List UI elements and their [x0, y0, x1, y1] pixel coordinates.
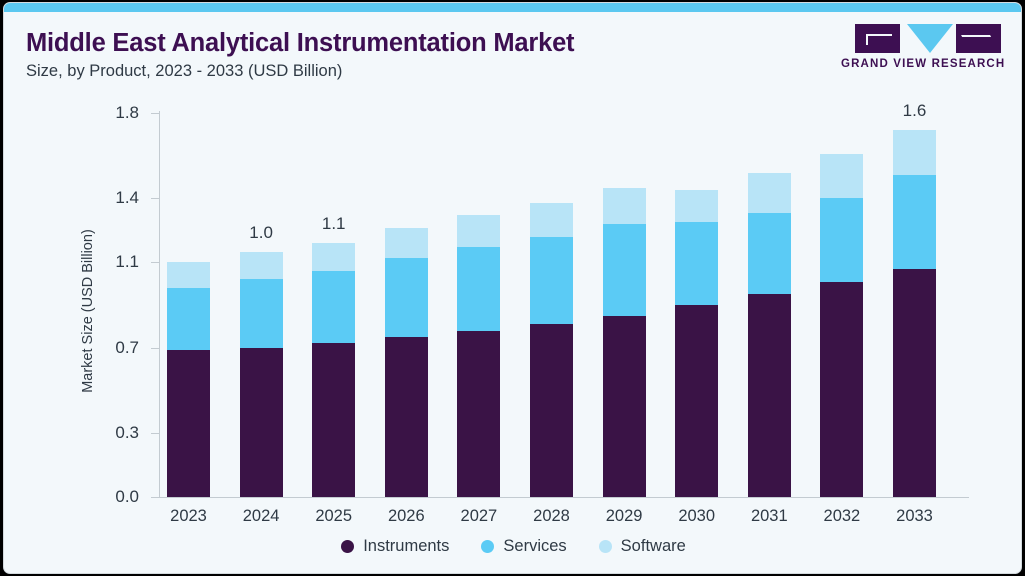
legend-item-instruments[interactable]: Instruments [341, 537, 449, 556]
bar-stack[interactable] [675, 190, 718, 497]
y-axis-line [159, 111, 160, 498]
bar-segment-services[interactable] [748, 213, 791, 294]
legend-label: Instruments [363, 537, 449, 556]
bar-segment-instruments[interactable] [312, 343, 355, 497]
bar-segment-instruments[interactable] [820, 282, 863, 497]
y-axis-tick-label: 0.0 [79, 487, 139, 507]
bar-stack[interactable] [167, 262, 210, 497]
bar-segment-software[interactable] [312, 243, 355, 271]
legend-label: Services [503, 537, 566, 556]
bar-stack[interactable] [240, 252, 283, 497]
y-axis-tick-mark [151, 198, 160, 199]
y-axis-tick-mark [151, 262, 160, 263]
x-axis-tick-label: 2031 [729, 507, 809, 526]
y-axis-tick-mark [151, 497, 160, 498]
bar-segment-instruments[interactable] [457, 331, 500, 497]
bar-segment-software[interactable] [675, 190, 718, 222]
bar-segment-services[interactable] [530, 237, 573, 324]
x-axis-tick-label: 2028 [512, 507, 592, 526]
x-axis-tick-label: 2030 [657, 507, 737, 526]
bar-value-label: 1.0 [221, 223, 301, 243]
chart-legend: InstrumentsServicesSoftware [4, 537, 1022, 556]
bar-segment-software[interactable] [385, 228, 428, 258]
bar-segment-software[interactable] [457, 215, 500, 247]
x-axis-line [159, 497, 969, 498]
x-axis-tick-label: 2027 [439, 507, 519, 526]
bar-segment-services[interactable] [167, 288, 210, 350]
bar-segment-instruments[interactable] [748, 294, 791, 497]
legend-swatch-icon [599, 540, 612, 553]
bar-stack[interactable] [457, 215, 500, 497]
legend-swatch-icon [481, 540, 494, 553]
x-axis-tick-label: 2025 [294, 507, 374, 526]
bar-segment-software[interactable] [603, 188, 646, 224]
x-axis-tick-label: 2032 [802, 507, 882, 526]
bar-segment-services[interactable] [893, 175, 936, 269]
x-axis-tick-label: 2026 [366, 507, 446, 526]
chart-plot-area: Market Size (USD Billion) 0.00.30.71.11.… [4, 3, 1022, 574]
bar-segment-software[interactable] [820, 154, 863, 199]
y-axis-tick-label: 0.7 [79, 338, 139, 358]
bar-stack[interactable] [603, 188, 646, 497]
y-axis-tick-label: 0.3 [79, 423, 139, 443]
bar-segment-services[interactable] [457, 247, 500, 330]
y-axis-tick-label: 1.8 [79, 103, 139, 123]
bar-segment-services[interactable] [675, 222, 718, 305]
bar-stack[interactable] [530, 203, 573, 497]
bar-stack[interactable] [385, 228, 428, 497]
bar-stack[interactable] [820, 154, 863, 497]
x-axis-tick-label: 2024 [221, 507, 301, 526]
y-axis-tick-mark [151, 433, 160, 434]
bar-segment-services[interactable] [820, 198, 863, 281]
bar-value-label: 1.1 [294, 214, 374, 234]
bar-stack[interactable] [312, 243, 355, 497]
bar-value-label: 1.6 [875, 101, 955, 121]
bar-stack[interactable] [893, 130, 936, 497]
bar-segment-software[interactable] [530, 203, 573, 237]
legend-label: Software [621, 537, 686, 556]
bar-segment-instruments[interactable] [167, 350, 210, 497]
y-axis-tick-label: 1.4 [79, 188, 139, 208]
bar-segment-software[interactable] [167, 262, 210, 288]
bar-segment-instruments[interactable] [675, 305, 718, 497]
y-axis-tick-mark [151, 113, 160, 114]
bar-segment-software[interactable] [240, 252, 283, 280]
y-axis-tick-mark [151, 348, 160, 349]
x-axis-tick-label: 2023 [149, 507, 229, 526]
legend-item-services[interactable]: Services [481, 537, 566, 556]
x-axis-tick-label: 2029 [584, 507, 664, 526]
chart-card: Middle East Analytical Instrumentation M… [3, 2, 1022, 574]
y-axis-tick-label: 1.1 [79, 252, 139, 272]
bar-segment-instruments[interactable] [893, 269, 936, 497]
bar-segment-instruments[interactable] [530, 324, 573, 497]
bar-segment-services[interactable] [385, 258, 428, 337]
legend-item-software[interactable]: Software [599, 537, 686, 556]
legend-swatch-icon [341, 540, 354, 553]
bar-segment-instruments[interactable] [603, 316, 646, 497]
bar-stack[interactable] [748, 173, 791, 497]
x-axis-tick-label: 2033 [875, 507, 955, 526]
bar-segment-software[interactable] [748, 173, 791, 214]
bar-segment-services[interactable] [240, 279, 283, 347]
y-axis-title: Market Size (USD Billion) [80, 201, 96, 421]
bar-segment-software[interactable] [893, 130, 936, 175]
bar-segment-instruments[interactable] [240, 348, 283, 497]
bar-segment-services[interactable] [603, 224, 646, 316]
bar-segment-services[interactable] [312, 271, 355, 344]
bar-segment-instruments[interactable] [385, 337, 428, 497]
